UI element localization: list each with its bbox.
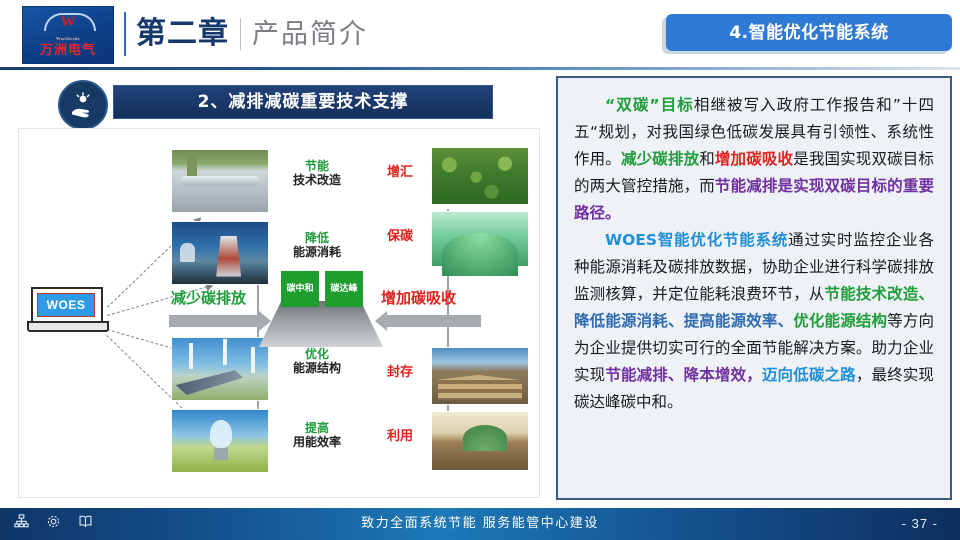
thumb-efficiency (171, 409, 269, 473)
p2-seg9: 降本增效， (684, 366, 762, 384)
thumb-carbon-use (431, 411, 529, 471)
hand-lightbulb-icon (58, 80, 108, 130)
puzzle-carbon-peak: 碳达峰 (325, 271, 363, 307)
section-title: 2、减排减碳重要技术支撑 (198, 92, 409, 112)
arrow-increase-absorption (385, 315, 481, 327)
p2-seg5: 提高能源效率、 (684, 312, 794, 330)
left-label-3-line2: 用能效率 (277, 435, 357, 450)
logo-subtext: Worldwide (56, 36, 80, 42)
logo-letter: W (44, 15, 92, 30)
paragraph-1: “双碳”目标相继被写入政府工作报告和”十四五“规划，对我国绿色低碳发展具有引领性… (574, 92, 934, 227)
p1-seg4: 和 (699, 150, 715, 168)
section-title-bar: 2、减排减碳重要技术支撑 (113, 85, 493, 119)
thumb-carbon-store (431, 347, 529, 405)
panel-text: “双碳”目标相继被写入政府工作报告和”十四五“规划，对我国绿色低碳发展具有引领性… (574, 92, 934, 416)
left-label-0: 节能 技术改造 (277, 159, 357, 188)
reduce-emissions-label: 减少碳排放 (171, 289, 246, 307)
p2-seg10: 迈向低碳之路 (762, 366, 856, 384)
left-label-1-line1: 降低 (277, 231, 357, 245)
woes-label: WOES (47, 298, 86, 312)
chapter-title: 第二章 (136, 14, 229, 54)
carbon-strategy-diagram: 节能 技术改造 降低 能源消耗 优化 能源结构 提高 用能效率 增汇 保碳 封存… (18, 128, 540, 498)
p2-seg3: 节能技术改造、 (825, 285, 934, 303)
thumb-renewables (171, 337, 269, 401)
left-label-3-line1: 提高 (277, 421, 357, 435)
thumb-forest-sink (431, 147, 529, 205)
left-label-2-line1: 优化 (277, 347, 357, 361)
left-label-2: 优化 能源结构 (277, 347, 357, 376)
thumb-carbon-keep (431, 211, 529, 267)
logo-company-name: 万洲电气 (40, 43, 96, 58)
puzzle-0-label: 碳中和 (286, 284, 313, 295)
p1-seg3: 减少碳排放 (621, 150, 699, 168)
p1-seg5: 增加碳吸收 (715, 150, 793, 168)
laptop-screen: WOES (37, 293, 95, 317)
woes-laptop: WOES (31, 287, 103, 333)
description-panel: “双碳”目标相继被写入政府工作报告和”十四五“规划，对我国绿色低碳发展具有引领性… (556, 76, 952, 500)
left-label-3: 提高 用能效率 (277, 421, 357, 450)
slide: W Worldwide 万洲电气 第二章 产品简介 4.智能优化节能系统 (0, 0, 960, 540)
thumb-energy-retrofit (171, 149, 269, 213)
paragraph-2: WOES智能优化节能系统通过实时监控企业各种能源消耗及碳排放数据，协助企业进行科… (574, 227, 934, 416)
right-label-1: 保碳 (387, 229, 413, 245)
p2-seg1: WOES智能优化节能系统 (605, 231, 788, 249)
banner-body: 4.智能优化节能系统 (666, 14, 952, 51)
left-label-1: 降低 能源消耗 (277, 231, 357, 260)
right-label-3: 利用 (387, 429, 413, 445)
thumb-power-plant (171, 221, 269, 285)
title-divider-2 (240, 18, 241, 50)
title-divider (124, 12, 126, 56)
topic-banner: 4.智能优化节能系统 (662, 14, 952, 54)
page-number: - 37 - (902, 514, 938, 534)
p2-seg6: 优化能源结构 (793, 312, 887, 330)
road-graphic (259, 301, 383, 347)
left-label-0-line2: 技术改造 (277, 173, 357, 188)
puzzle-carbon-neutral: 碳中和 (281, 271, 319, 307)
banner-label: 4.智能优化节能系统 (729, 23, 888, 43)
right-label-2: 封存 (387, 365, 413, 381)
right-label-0: 增汇 (387, 165, 413, 181)
header-rule (0, 67, 960, 70)
chapter-subtitle: 产品简介 (252, 16, 368, 54)
arrow-reduce-emissions (169, 315, 261, 327)
laptop-lid: WOES (31, 287, 103, 325)
p1-seg1: “双碳”目标 (605, 96, 694, 114)
increase-absorption-label: 增加碳吸收 (381, 289, 456, 307)
p2-seg4: 降低能源消耗、 (574, 312, 684, 330)
left-label-2-line2: 能源结构 (277, 361, 357, 376)
p2-seg8: 节能减排、 (605, 366, 683, 384)
footer-slogan: 致力全面系统节能 服务能管中心建设 (0, 514, 960, 534)
logo-emblem-icon: W (44, 13, 92, 35)
left-label-0-line1: 节能 (277, 159, 357, 173)
laptop-base (27, 321, 109, 332)
company-logo: W Worldwide 万洲电气 (22, 6, 114, 64)
slide-header: W Worldwide 万洲电气 第二章 产品简介 4.智能优化节能系统 (0, 0, 960, 70)
puzzle-1-label: 碳达峰 (330, 284, 357, 295)
left-label-1-line2: 能源消耗 (277, 245, 357, 260)
